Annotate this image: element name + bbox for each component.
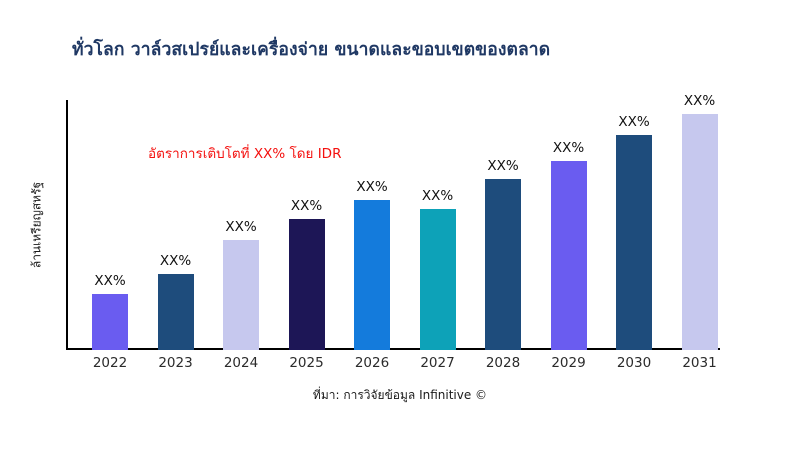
bar-value-label: XX% (471, 158, 535, 174)
bar-value-label: XX% (602, 114, 666, 130)
x-tick-2030: 2030 (602, 355, 666, 371)
bar-2025[interactable] (289, 219, 325, 350)
x-axis-tick-labels: 2022202320242025202620272028202920302031 (66, 355, 780, 377)
bar-2027[interactable] (420, 209, 456, 350)
bar-group: XX% (602, 100, 666, 350)
bar-group: XX% (340, 100, 404, 350)
bar-2029[interactable] (551, 161, 587, 350)
bar-value-label: XX% (668, 93, 732, 109)
bar-2022[interactable] (92, 294, 128, 350)
x-tick-2029: 2029 (537, 355, 601, 371)
source-note: ที่มา: การวิจัยข้อมูล Infinitive © (0, 386, 800, 405)
x-tick-2024: 2024 (209, 355, 273, 371)
y-axis-label: ล้านเหรียญสหรัฐ (26, 100, 48, 350)
y-axis-label-text: ล้านเหรียญสหรัฐ (28, 182, 47, 268)
bar-value-label: XX% (275, 198, 339, 214)
bar-2024[interactable] (223, 240, 259, 350)
bar-2026[interactable] (354, 200, 390, 350)
bar-2030[interactable] (616, 135, 652, 350)
chart-container: ทั่วโลก วาล์วสเปรย์และเครื่องจ่าย ขนาดแล… (0, 0, 800, 450)
bar-group: XX% (668, 100, 732, 350)
x-tick-2027: 2027 (406, 355, 470, 371)
bar-2028[interactable] (485, 179, 521, 350)
bar-group: XX% (406, 100, 470, 350)
chart-title: ทั่วโลก วาล์วสเปรย์และเครื่องจ่าย ขนาดแล… (72, 40, 772, 61)
bar-2023[interactable] (158, 274, 194, 350)
bars-layer: XX%XX%XX%XX%XX%XX%XX%XX%XX%XX% (66, 100, 780, 350)
bar-group: XX% (537, 100, 601, 350)
x-tick-2028: 2028 (471, 355, 535, 371)
bar-group: XX% (275, 100, 339, 350)
growth-rate-annotation: อัตราการเติบโตที่ XX% โดย IDR (148, 142, 341, 164)
bar-value-label: XX% (406, 188, 470, 204)
bar-value-label: XX% (537, 140, 601, 156)
bar-group: XX% (209, 100, 273, 350)
bar-2031[interactable] (682, 114, 718, 350)
bar-group: XX% (144, 100, 208, 350)
bar-value-label: XX% (209, 219, 273, 235)
x-tick-2023: 2023 (144, 355, 208, 371)
x-tick-2026: 2026 (340, 355, 404, 371)
bar-value-label: XX% (144, 253, 208, 269)
bar-group: XX% (471, 100, 535, 350)
x-tick-2031: 2031 (668, 355, 732, 371)
x-tick-2025: 2025 (275, 355, 339, 371)
bar-group: XX% (78, 100, 142, 350)
x-tick-2022: 2022 (78, 355, 142, 371)
bar-value-label: XX% (340, 179, 404, 195)
bar-value-label: XX% (78, 273, 142, 289)
